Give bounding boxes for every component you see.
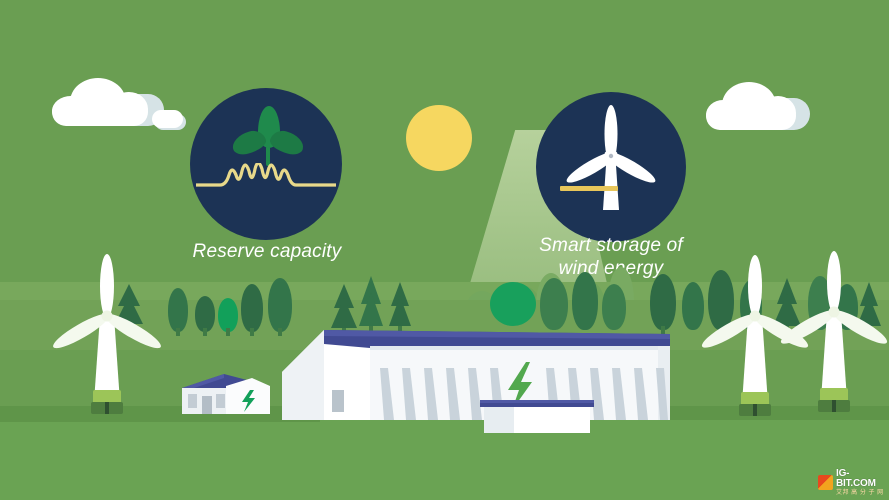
ig-bit-logo-icon xyxy=(818,475,833,490)
cloud-right xyxy=(706,82,810,130)
wind-turbine-icon xyxy=(536,92,686,242)
building-annex xyxy=(478,400,596,436)
cloud-small-left xyxy=(152,110,186,130)
wind-turbine-left xyxy=(52,250,162,418)
leaves-icon xyxy=(232,106,304,168)
cloud-large-left xyxy=(52,78,164,126)
site-watermark: IG-BIT.COM 艾邦 高 分 子 网 xyxy=(818,471,884,493)
waveform-icon xyxy=(196,163,336,207)
watermark-subtext: 艾邦 高 分 子 网 xyxy=(836,490,884,496)
substation-house[interactable] xyxy=(178,372,274,418)
turbine-baseline-icon xyxy=(560,186,618,191)
illustration-canvas: Reserve capacity Smart storage of wind e… xyxy=(0,0,889,500)
sun xyxy=(406,105,472,171)
wind-turbine-right-near xyxy=(778,248,889,420)
watermark-text: IG-BIT.COM xyxy=(836,469,884,489)
